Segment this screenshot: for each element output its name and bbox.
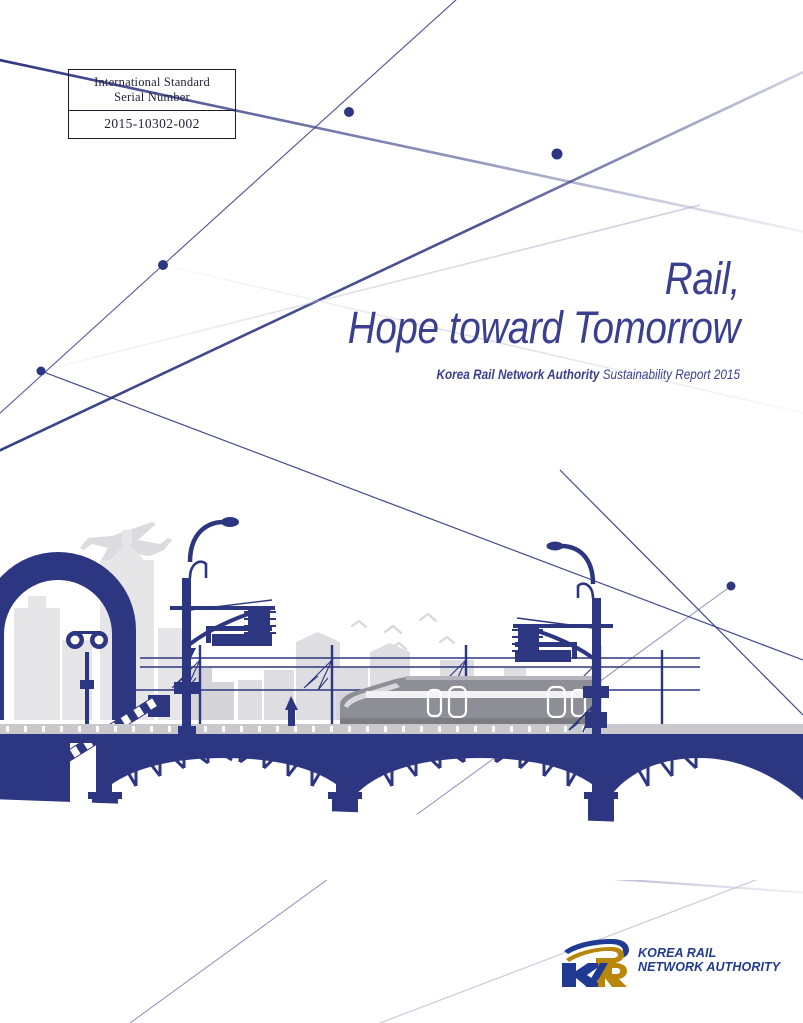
report-cover-page: International Standard Serial Number 201… [0, 0, 803, 1023]
network-dot [344, 107, 354, 117]
network-dot [552, 149, 563, 160]
title-block: Rail, Hope toward Tomorrow Korea Rail Ne… [180, 255, 740, 382]
issn-label-line-2: Serial Number [73, 90, 231, 105]
ground-line [0, 800, 803, 880]
network-dot [37, 367, 46, 376]
bridge-deck [0, 724, 803, 743]
kr-logo-text: KOREA RAIL NETWORK AUTHORITY [638, 946, 780, 974]
kr-logo-mark [556, 937, 636, 987]
network-line-3b [0, 265, 163, 424]
railway-illustration [0, 500, 803, 880]
kr-logo-text-line-2: NETWORK AUTHORITY [638, 960, 780, 974]
subtitle-document: Sustainability Report 2015 [603, 366, 740, 382]
issn-value: 2015-10302-002 [69, 111, 235, 138]
title-line-2: Hope toward Tomorrow [258, 302, 740, 354]
subtitle: Korea Rail Network Authority Sustainabil… [270, 366, 740, 382]
network-dot [158, 260, 168, 270]
subtitle-organization: Korea Rail Network Authority [437, 366, 600, 382]
kr-logo: KOREA RAIL NETWORK AUTHORITY [556, 933, 756, 988]
issn-box: International Standard Serial Number 201… [68, 69, 236, 139]
title-line-1: Rail, [258, 255, 740, 302]
kr-logo-text-line-1: KOREA RAIL [638, 946, 716, 960]
issn-label-line-1: International Standard [94, 75, 210, 89]
birds-icon [352, 614, 454, 649]
issn-label: International Standard Serial Number [69, 70, 235, 111]
